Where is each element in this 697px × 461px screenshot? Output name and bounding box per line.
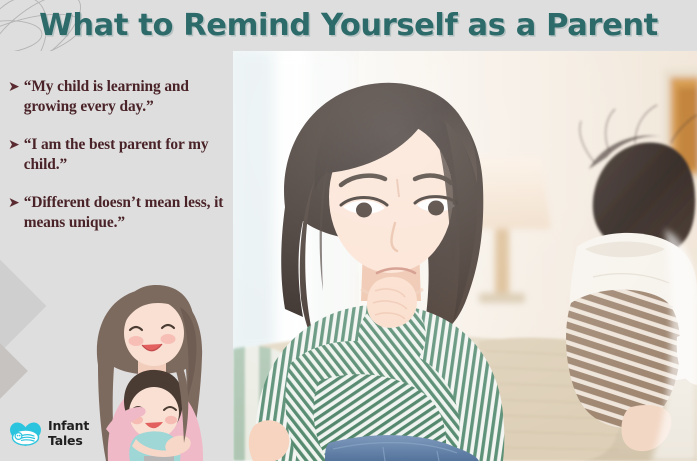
title-bar: What to Remind Yourself as a Parent	[0, 0, 697, 51]
brand-logo[interactable]: Infant Tales	[9, 420, 89, 447]
list-item: ➤ “I am the best parent for my child.”	[8, 135, 233, 174]
list-item-label: “Different doesn’t mean less, it means u…	[24, 193, 233, 232]
list-item: ➤ “Different doesn’t mean less, it means…	[8, 193, 233, 232]
brand-name: Infant Tales	[48, 420, 89, 447]
arrow-bullet-icon: ➤	[8, 193, 20, 212]
infant-tales-heart-baby-icon	[9, 421, 42, 447]
mother-and-toddler-on-sofa-photo	[233, 51, 697, 461]
left-content-panel: ➤ “My child is learning and growing ever…	[0, 51, 233, 461]
brand-name-line1: Infant	[48, 420, 89, 433]
poster-canvas: What to Remind Yourself as a Parent ➤ “M…	[0, 0, 697, 461]
list-item-label: “My child is learning and growing every …	[24, 77, 233, 116]
page-title: What to Remind Yourself as a Parent	[39, 8, 658, 43]
list-item: ➤ “My child is learning and growing ever…	[8, 77, 233, 116]
brand-name-line2: Tales	[48, 435, 89, 448]
reminder-list: ➤ “My child is learning and growing ever…	[8, 77, 233, 251]
list-item-label: “I am the best parent for my child.”	[24, 135, 233, 174]
arrow-bullet-icon: ➤	[8, 135, 20, 154]
arrow-bullet-icon: ➤	[8, 77, 20, 96]
